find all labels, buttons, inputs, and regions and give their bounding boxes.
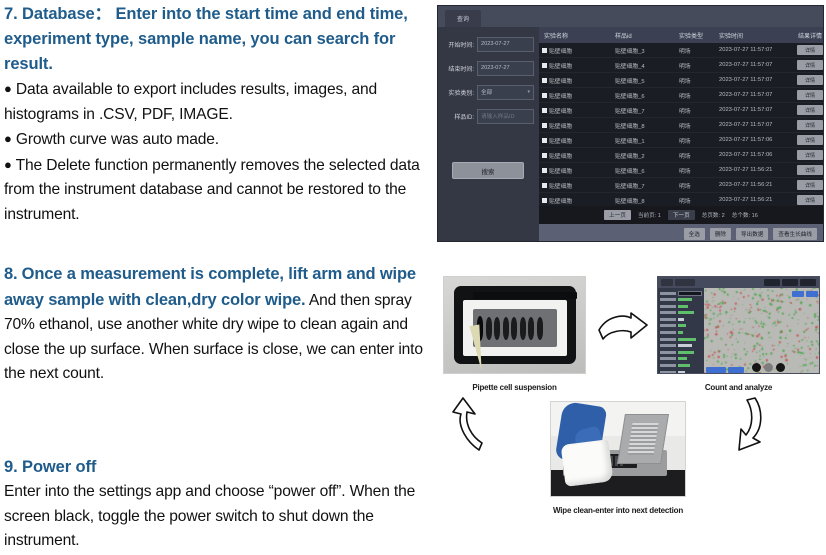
circle-marker bbox=[764, 363, 773, 372]
table-action-bar: 全选 删除 导出数据 查看生长曲线 bbox=[539, 224, 823, 242]
row-checkbox[interactable] bbox=[542, 93, 547, 98]
cell-time: 2023-07-27 11:57:07 bbox=[719, 107, 797, 113]
analyze-stat-row bbox=[660, 311, 702, 315]
view-buttons bbox=[792, 291, 818, 297]
row-label bbox=[660, 292, 676, 295]
cell-name-text: 贴壁细胞 bbox=[549, 196, 572, 205]
analyze-stat-row bbox=[660, 298, 702, 302]
cell-sample-id: 贴壁细胞_7 bbox=[615, 106, 679, 115]
section-8-content: 8. Once a measurement is complete, lift … bbox=[4, 262, 424, 387]
cell-actions: 详情 bbox=[797, 150, 823, 160]
analyze-main bbox=[658, 288, 819, 374]
row-checkbox[interactable] bbox=[542, 108, 547, 113]
cell-sample-id: 贴壁细胞_8 bbox=[615, 121, 679, 130]
section-8-number: 8. bbox=[4, 265, 17, 283]
well bbox=[528, 317, 534, 340]
row-value bbox=[678, 338, 696, 341]
circle-marker bbox=[776, 363, 785, 372]
page-root: 7. Database： Enter into the start time a… bbox=[0, 0, 826, 555]
section-7-number: 7. bbox=[4, 5, 18, 23]
column-header-details: 结果详情 bbox=[797, 31, 823, 40]
cell-name: 贴壁细胞 bbox=[539, 106, 615, 115]
cell-time: 2023-07-27 11:57:07 bbox=[719, 92, 797, 98]
row-label bbox=[660, 324, 676, 327]
analyze-stat-row bbox=[660, 317, 702, 321]
current-page-label: 当前页: 1 bbox=[638, 211, 661, 219]
prev-page-button[interactable]: 上一页 bbox=[604, 210, 631, 220]
cell-sample-id: 贴壁细胞_6 bbox=[615, 91, 679, 100]
cell-name: 贴壁细胞 bbox=[539, 136, 615, 145]
section-7-title: Database： bbox=[22, 5, 111, 23]
row-checkbox[interactable] bbox=[542, 123, 547, 128]
caption-analyze: Count and analyze bbox=[657, 383, 820, 392]
view-button[interactable] bbox=[806, 291, 818, 297]
start-time-input[interactable]: 2023-07-27 bbox=[477, 37, 534, 52]
row-label bbox=[660, 311, 676, 314]
well-plate bbox=[473, 309, 557, 347]
section-9: 9. Power off Enter into the settings app… bbox=[4, 455, 424, 554]
table-rows: 贴壁细胞贴壁细胞_3明场2023-07-27 11:57:07详情贴壁细胞贴壁细… bbox=[539, 43, 823, 206]
view-bottom-buttons bbox=[706, 367, 744, 373]
cell-sample-id: 贴壁细胞_1 bbox=[615, 136, 679, 145]
cell-name: 贴壁细胞 bbox=[539, 91, 615, 100]
cell-name-text: 贴壁细胞 bbox=[549, 91, 572, 100]
workflow-photo-flow: Pipette cell suspension bbox=[437, 268, 826, 553]
section-9-number: 9. bbox=[4, 458, 18, 476]
app-body: 开始时间: 2023-07-27 结束时间: 2023-07-27 实验类别: … bbox=[438, 27, 823, 242]
cell-sample-id: 贴壁细胞_4 bbox=[615, 61, 679, 70]
bullet-text: Data available to export includes result… bbox=[4, 81, 377, 123]
cell-type: 明场 bbox=[679, 46, 719, 55]
row-value bbox=[678, 311, 694, 314]
toolbar-pill bbox=[764, 279, 780, 286]
detail-button[interactable]: 详情 bbox=[797, 60, 823, 70]
experiment-type-select[interactable]: 全部 ▾ bbox=[477, 85, 534, 100]
column-header-name: 实验名称 bbox=[539, 31, 615, 40]
column-header-type: 实验类型 bbox=[679, 31, 719, 40]
detail-button[interactable]: 详情 bbox=[797, 45, 823, 55]
analyze-topbar bbox=[658, 277, 819, 288]
cell-sample-id: 贴壁细胞_3 bbox=[615, 46, 679, 55]
cell-name: 贴壁细胞 bbox=[539, 181, 615, 190]
cell-name: 贴壁细胞 bbox=[539, 61, 615, 70]
cell-actions: 详情 bbox=[797, 105, 823, 115]
field-sample-id: 样品ID: 请输入样品ID bbox=[442, 108, 534, 124]
row-label bbox=[660, 338, 676, 341]
row-checkbox[interactable] bbox=[542, 183, 547, 188]
detail-button[interactable]: 详情 bbox=[797, 150, 823, 160]
search-button[interactable]: 搜索 bbox=[452, 162, 524, 179]
cell-name: 贴壁细胞 bbox=[539, 196, 615, 205]
cell-actions: 详情 bbox=[797, 120, 823, 130]
detail-button[interactable]: 详情 bbox=[797, 75, 823, 85]
analyze-stat-row bbox=[660, 331, 702, 335]
row-label bbox=[660, 364, 676, 367]
table-row[interactable]: 贴壁细胞贴壁细胞_8明场2023-07-27 11:56:21详情 bbox=[539, 193, 823, 206]
table-row[interactable]: 贴壁细胞贴壁细胞_6明场2023-07-27 11:56:21详情 bbox=[539, 163, 823, 178]
cell-actions: 详情 bbox=[797, 60, 823, 70]
cell-name-text: 贴壁细胞 bbox=[549, 121, 572, 130]
column-header-time: 实验时间 bbox=[719, 31, 797, 40]
view-bottom-button[interactable] bbox=[728, 367, 744, 373]
bullet-text: Growth curve was auto made. bbox=[16, 131, 219, 148]
tab-query[interactable]: 查询 bbox=[445, 10, 481, 27]
cell-name: 贴壁细胞 bbox=[539, 151, 615, 160]
cell-sample-id: 贴壁细胞_2 bbox=[615, 151, 679, 160]
cell-actions: 详情 bbox=[797, 75, 823, 85]
row-value bbox=[678, 371, 685, 374]
field-end-time-label: 结束时间: bbox=[442, 64, 477, 73]
analyze-stat-row bbox=[660, 364, 702, 368]
tray-slot bbox=[473, 292, 577, 299]
toolbar-pill bbox=[800, 279, 816, 286]
cell-type: 明场 bbox=[679, 61, 719, 70]
cell-type: 明场 bbox=[679, 151, 719, 160]
cell-image-canvas bbox=[704, 288, 820, 374]
cell-name: 贴壁细胞 bbox=[539, 46, 615, 55]
results-table-panel: 实验名称 样品id 实验类型 实验时间 结果详情 贴壁细胞贴壁细胞_3明场202… bbox=[539, 27, 823, 242]
row-label bbox=[660, 371, 676, 374]
analyze-select-row bbox=[660, 291, 702, 295]
end-time-input[interactable]: 2023-07-27 bbox=[477, 61, 534, 76]
well bbox=[520, 317, 526, 340]
analyze-image-view bbox=[704, 288, 820, 374]
arrow-right-icon bbox=[597, 312, 649, 344]
analyze-stat-row bbox=[660, 304, 702, 308]
analyze-stat-row bbox=[660, 370, 702, 374]
cell-type: 明场 bbox=[679, 166, 719, 175]
well bbox=[503, 317, 509, 340]
bullet-item: ● The Delete function permanently remove… bbox=[4, 153, 428, 228]
cell-name-text: 贴壁细胞 bbox=[549, 46, 572, 55]
row-value bbox=[678, 324, 686, 327]
row-value bbox=[678, 305, 688, 308]
section-9-heading-row: 9. Power off bbox=[4, 455, 424, 480]
row-value bbox=[678, 351, 694, 354]
experiment-type-value: 全部 bbox=[481, 88, 492, 96]
cell-sample-id: 贴壁细胞_6 bbox=[615, 166, 679, 175]
table-row[interactable]: 贴壁细胞贴壁细胞_4明场2023-07-27 11:57:07详情 bbox=[539, 58, 823, 73]
section-7-bullets: ● Data available to export includes resu… bbox=[4, 77, 428, 227]
table-row[interactable]: 贴壁细胞贴壁细胞_6明场2023-07-27 11:57:07详情 bbox=[539, 88, 823, 103]
table-row[interactable]: 贴壁细胞贴壁细胞_1明场2023-07-27 11:57:06详情 bbox=[539, 133, 823, 148]
bullet-item: ● Data available to export includes resu… bbox=[4, 77, 428, 127]
table-row[interactable]: 贴壁细胞贴壁细胞_2明场2023-07-27 11:57:06详情 bbox=[539, 148, 823, 163]
cell-type: 明场 bbox=[679, 196, 719, 205]
row-value bbox=[678, 364, 690, 367]
analyze-stat-row bbox=[660, 324, 702, 328]
cell-actions: 详情 bbox=[797, 90, 823, 100]
detail-button[interactable]: 详情 bbox=[797, 135, 823, 145]
query-form-panel: 开始时间: 2023-07-27 结束时间: 2023-07-27 实验类别: … bbox=[438, 27, 539, 242]
view-bottom-button[interactable] bbox=[706, 367, 726, 373]
table-row[interactable]: 贴壁细胞贴壁细胞_8明场2023-07-27 11:57:07详情 bbox=[539, 118, 823, 133]
total-pages-label: 总页数: 2 bbox=[702, 211, 725, 219]
field-experiment-type-label: 实验类别: bbox=[442, 88, 477, 97]
view-button[interactable] bbox=[792, 291, 804, 297]
row-checkbox[interactable] bbox=[542, 78, 547, 83]
cell-type: 明场 bbox=[679, 76, 719, 85]
row-value bbox=[678, 331, 683, 334]
select-all-button[interactable]: 全选 bbox=[684, 228, 705, 240]
cell-actions: 详情 bbox=[797, 45, 823, 55]
table-header: 实验名称 样品id 实验类型 实验时间 结果详情 bbox=[539, 27, 823, 43]
arrow-down-left-icon bbox=[727, 396, 767, 454]
cell-time: 2023-07-27 11:57:07 bbox=[719, 62, 797, 68]
toolbar-pill bbox=[675, 279, 695, 286]
field-experiment-type: 实验类别: 全部 ▾ bbox=[442, 84, 534, 100]
delete-button[interactable]: 删除 bbox=[710, 228, 731, 240]
row-label bbox=[660, 318, 676, 321]
section-7-heading: 7. Database： Enter into the start time a… bbox=[4, 2, 428, 77]
row-checkbox[interactable] bbox=[542, 153, 547, 158]
field-end-time: 结束时间: 2023-07-27 bbox=[442, 60, 534, 76]
toolbar-pill bbox=[661, 279, 673, 286]
table-row[interactable]: 贴壁细胞贴壁细胞_7明场2023-07-27 11:56:21详情 bbox=[539, 178, 823, 193]
row-label bbox=[660, 298, 676, 301]
row-checkbox[interactable] bbox=[542, 48, 547, 53]
instrument-lid bbox=[617, 414, 669, 464]
column-header-sample-id: 样品id bbox=[615, 31, 679, 40]
bullet-dot-icon: ● bbox=[4, 81, 12, 96]
well bbox=[494, 317, 500, 340]
caption-pipette: Pipette cell suspension bbox=[443, 383, 586, 392]
row-label bbox=[660, 305, 676, 308]
cell-type: 明场 bbox=[679, 181, 719, 190]
cell-type: 明场 bbox=[679, 91, 719, 100]
cell-name-text: 贴壁细胞 bbox=[549, 61, 572, 70]
next-page-button[interactable]: 下一页 bbox=[668, 210, 695, 220]
sample-circles bbox=[752, 363, 785, 372]
row-label bbox=[660, 344, 676, 347]
detail-button[interactable]: 详情 bbox=[797, 120, 823, 130]
cell-name-text: 贴壁细胞 bbox=[549, 106, 572, 115]
arrow-up-left-icon bbox=[449, 396, 489, 454]
cell-actions: 详情 bbox=[797, 135, 823, 145]
row-value bbox=[678, 357, 687, 360]
detail-button[interactable]: 详情 bbox=[797, 90, 823, 100]
photo-pipette-cell-suspension bbox=[443, 276, 586, 374]
field-start-time-label: 开始时间: bbox=[442, 40, 477, 49]
well bbox=[486, 317, 492, 340]
cell-name-text: 贴壁细胞 bbox=[549, 151, 572, 160]
cell-actions: 详情 bbox=[797, 165, 823, 175]
cell-actions: 详情 bbox=[797, 180, 823, 190]
database-app-screenshot: 查询 开始时间: 2023-07-27 结束时间: 2023-07-27 实验类… bbox=[437, 5, 824, 242]
table-row[interactable]: 贴壁细胞贴壁细胞_7明场2023-07-27 11:57:07详情 bbox=[539, 103, 823, 118]
detail-button[interactable]: 详情 bbox=[797, 105, 823, 115]
table-row[interactable]: 贴壁细胞贴壁细胞_5明场2023-07-27 11:57:07详情 bbox=[539, 73, 823, 88]
cell-time: 2023-07-27 11:57:07 bbox=[719, 47, 797, 53]
row-value bbox=[678, 298, 692, 301]
analyze-stat-row bbox=[660, 357, 702, 361]
analyze-stat-row bbox=[660, 337, 702, 341]
row-value bbox=[678, 344, 692, 347]
lid-grid bbox=[627, 423, 658, 455]
well bbox=[511, 317, 517, 340]
row-value bbox=[678, 318, 684, 321]
cell-name: 贴壁细胞 bbox=[539, 166, 615, 175]
pagination-bar: 上一页 当前页: 1 下一页 总页数: 2 总个数: 16 bbox=[539, 206, 823, 224]
field-start-time: 开始时间: 2023-07-27 bbox=[442, 36, 534, 52]
row-checkbox[interactable] bbox=[542, 198, 547, 203]
sample-id-input[interactable]: 请输入样品ID bbox=[477, 109, 534, 124]
circle-marker bbox=[752, 363, 761, 372]
cell-time: 2023-07-27 11:57:06 bbox=[719, 137, 797, 143]
section-8: 8. Once a measurement is complete, lift … bbox=[4, 262, 424, 387]
cell-time: 2023-07-27 11:56:21 bbox=[719, 182, 797, 188]
bullet-item: ● Growth curve was auto made. bbox=[4, 127, 428, 153]
caption-wipe: Wipe clean-enter into next detection bbox=[530, 506, 706, 515]
cell-time: 2023-07-27 11:57:07 bbox=[719, 122, 797, 128]
row-label bbox=[660, 351, 676, 354]
section-9-heading: Power off bbox=[22, 458, 96, 476]
cell-name-text: 贴壁细胞 bbox=[549, 136, 572, 145]
photo-wipe-clean bbox=[550, 401, 686, 497]
analyze-stat-row bbox=[660, 344, 702, 348]
bullet-dot-icon: ● bbox=[4, 131, 12, 146]
table-row[interactable]: 贴壁细胞贴壁细胞_3明场2023-07-27 11:57:07详情 bbox=[539, 43, 823, 58]
chevron-down-icon: ▾ bbox=[527, 89, 530, 95]
cell-name: 贴壁细胞 bbox=[539, 121, 615, 130]
row-label bbox=[660, 357, 676, 360]
cell-type: 明场 bbox=[679, 136, 719, 145]
row-label bbox=[660, 331, 676, 334]
cell-type: 明场 bbox=[679, 106, 719, 115]
detail-button[interactable]: 详情 bbox=[797, 195, 823, 205]
app-tab-bar: 查询 bbox=[438, 6, 823, 27]
cell-type: 明场 bbox=[679, 121, 719, 130]
detail-button[interactable]: 详情 bbox=[797, 180, 823, 190]
cleaning-wipe bbox=[561, 439, 614, 487]
section-7: 7. Database： Enter into the start time a… bbox=[4, 2, 428, 227]
bullet-dot-icon: ● bbox=[4, 157, 12, 172]
cell-name-text: 贴壁细胞 bbox=[549, 166, 572, 175]
detail-button[interactable]: 详情 bbox=[797, 165, 823, 175]
row-checkbox[interactable] bbox=[542, 168, 547, 173]
well bbox=[537, 317, 543, 340]
cell-actions: 详情 bbox=[797, 195, 823, 205]
field-sample-id-label: 样品ID: bbox=[442, 112, 477, 121]
row-checkbox[interactable] bbox=[542, 138, 547, 143]
analyze-dropdown[interactable] bbox=[678, 291, 702, 296]
cell-sample-id: 贴壁细胞_7 bbox=[615, 181, 679, 190]
total-count-label: 总个数: 16 bbox=[732, 211, 758, 219]
analyze-stat-row bbox=[660, 350, 702, 354]
analyze-sidebar bbox=[658, 288, 704, 374]
cell-sample-id: 贴壁细胞_8 bbox=[615, 196, 679, 205]
section-9-body: Enter into the settings app and choose “… bbox=[4, 480, 424, 554]
cell-name-text: 贴壁细胞 bbox=[549, 76, 572, 85]
cell-time: 2023-07-27 11:57:06 bbox=[719, 152, 797, 158]
view-growth-curve-button[interactable]: 查看生长曲线 bbox=[773, 228, 817, 240]
photo-count-and-analyze bbox=[657, 276, 820, 374]
cell-name: 贴壁细胞 bbox=[539, 76, 615, 85]
cell-time: 2023-07-27 11:56:21 bbox=[719, 197, 797, 203]
cell-time: 2023-07-27 11:57:07 bbox=[719, 77, 797, 83]
row-checkbox[interactable] bbox=[542, 63, 547, 68]
cell-name-text: 贴壁细胞 bbox=[549, 181, 572, 190]
cell-sample-id: 贴壁细胞_5 bbox=[615, 76, 679, 85]
export-data-button[interactable]: 导出数据 bbox=[736, 228, 768, 240]
cell-time: 2023-07-27 11:56:21 bbox=[719, 167, 797, 173]
toolbar-pill bbox=[782, 279, 798, 286]
bullet-text: The Delete function permanently removes … bbox=[4, 157, 420, 223]
